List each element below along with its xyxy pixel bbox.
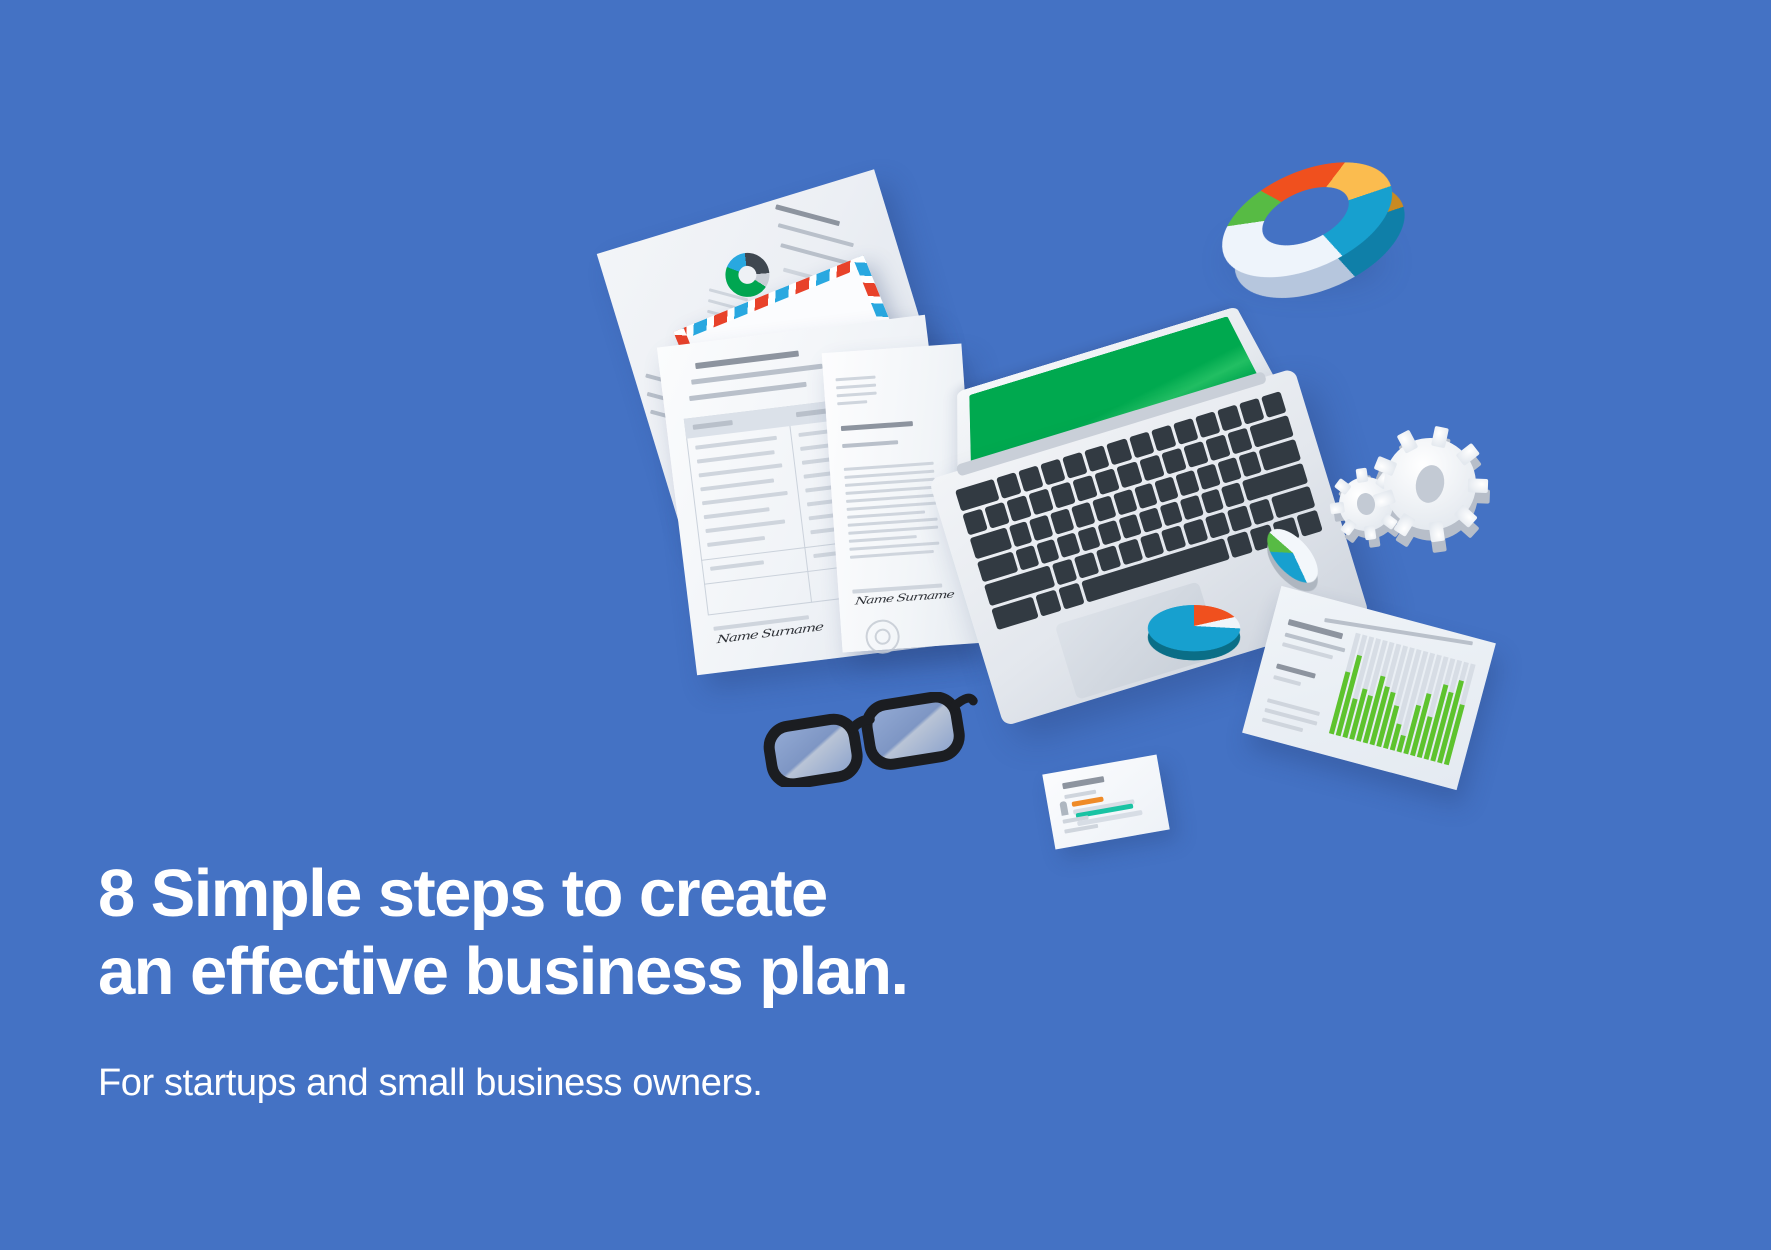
report-card	[1242, 586, 1496, 790]
headline-line-1: 8 Simple steps to create	[98, 855, 1078, 933]
page-title: 8 Simple steps to create an effective bu…	[98, 855, 1078, 1012]
report-card-bars	[1329, 633, 1476, 766]
pie-chart-small	[1148, 580, 1240, 672]
headline-line-2: an effective business plan.	[98, 933, 1078, 1011]
eyeglasses-svg	[755, 692, 980, 787]
eyeglasses	[755, 692, 980, 787]
hero-text-block: 8 Simple steps to create an effective bu…	[98, 855, 1078, 1106]
page-subtitle: For startups and small business owners.	[98, 1061, 1078, 1107]
business-card	[1042, 755, 1169, 850]
hero-banner: Name Surname Name Surname	[0, 0, 1771, 1250]
